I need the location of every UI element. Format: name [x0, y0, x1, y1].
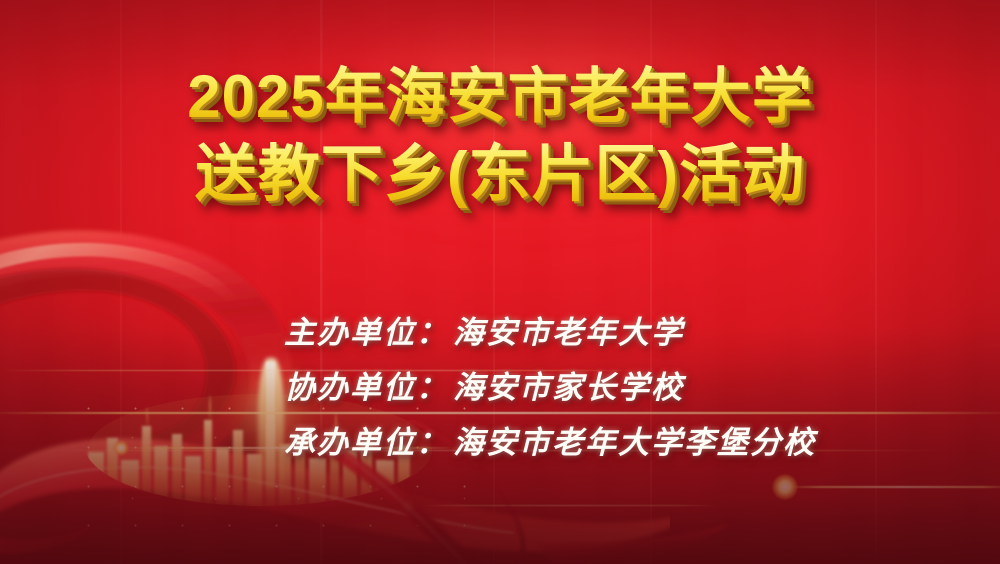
event-banner: 2025年海安市老年大学 送教下乡(东片区)活动 主办单位：海安市老年大学 协办… [0, 0, 1000, 564]
organizer-name-organizer: 海安市老年大学李堡分校 [453, 425, 816, 461]
organizer-role-organizer: 承办单位 [284, 425, 416, 461]
organizer-row-co-host: 协办单位：海安市家长学校 [284, 361, 904, 416]
title-block: 2025年海安市老年大学 送教下乡(东片区)活动 [0, 58, 1000, 214]
organizer-block: 主办单位：海安市老年大学 协办单位：海安市家长学校 承办单位：海安市老年大学李堡… [284, 306, 904, 471]
organizer-row-host: 主办单位：海安市老年大学 [284, 306, 904, 361]
organizer-separator-organizer: ： [416, 425, 453, 461]
organizer-name-co-host: 海安市家长学校 [453, 370, 684, 406]
title-line-2: 送教下乡(东片区)活动 [0, 136, 1000, 214]
title-line-1: 2025年海安市老年大学 [0, 58, 1000, 136]
organizer-separator-co-host: ： [416, 370, 453, 406]
organizer-role-co-host: 协办单位 [284, 370, 416, 406]
organizer-role-host: 主办单位 [284, 315, 416, 351]
organizer-row-organizer: 承办单位：海安市老年大学李堡分校 [284, 416, 904, 471]
gold-streak-dot-left [113, 440, 129, 456]
organizer-name-host: 海安市老年大学 [453, 315, 684, 351]
organizer-separator-host: ： [416, 315, 453, 351]
